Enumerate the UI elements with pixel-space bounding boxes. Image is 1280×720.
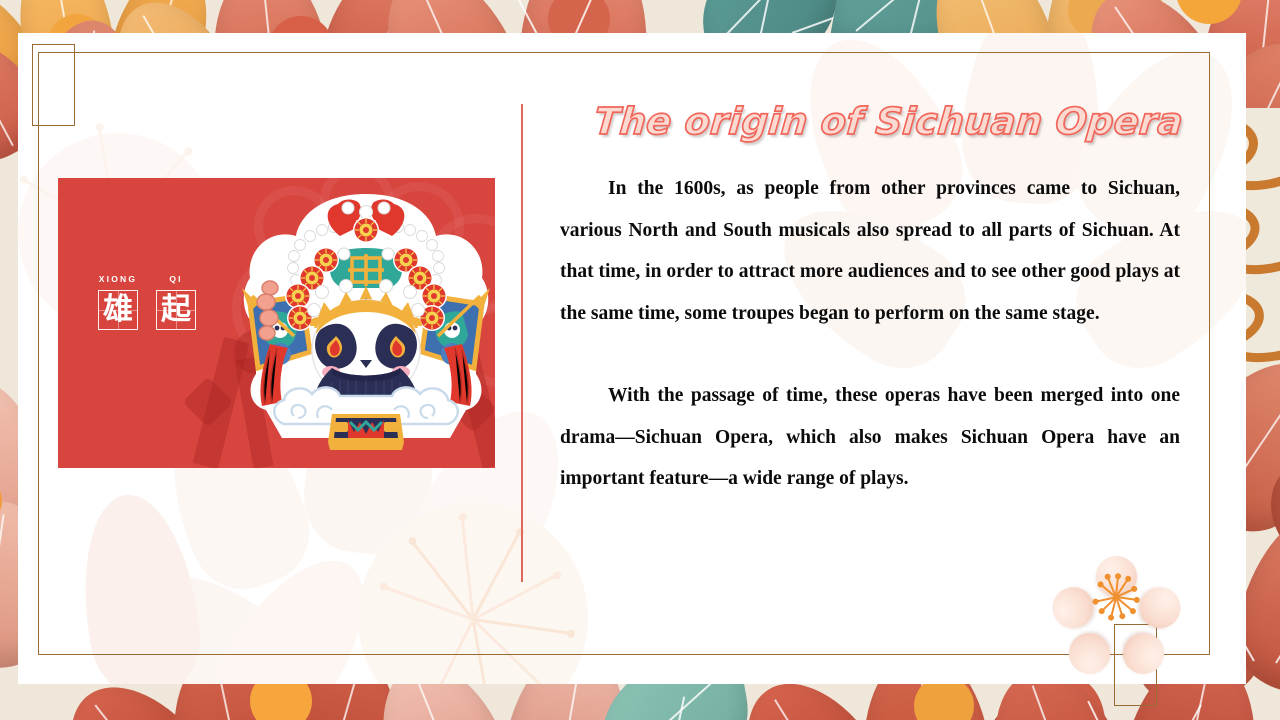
body-text: In the 1600s, as people from other provi…: [560, 168, 1180, 500]
paragraph-2: With the passage of time, these operas h…: [560, 375, 1180, 500]
watermark-leaf: [78, 473, 338, 684]
paragraph-1: In the 1600s, as people from other provi…: [560, 168, 1180, 334]
character-qi: 起: [161, 295, 191, 325]
pinyin-qi: QI: [156, 274, 196, 284]
character-cell-xiong: 雄: [98, 290, 138, 330]
vertical-divider: [521, 104, 523, 582]
sichuan-opera-image[interactable]: XIONG 雄 QI 起: [58, 178, 495, 468]
opera-panda-mask-figure: [236, 192, 495, 468]
page-title: The origin of Sichuan Opera: [592, 100, 1157, 152]
character-cell-qi: 起: [156, 290, 196, 330]
plum-blossom-icon: [1070, 556, 1162, 636]
frame-corner-tick-top-left: [32, 44, 75, 126]
character-xiong: 雄: [103, 295, 133, 325]
pinyin-xiong: XIONG: [98, 274, 138, 284]
image-caption: XIONG 雄 QI 起: [98, 274, 196, 330]
slide-canvas: XIONG 雄 QI 起: [0, 0, 1280, 720]
